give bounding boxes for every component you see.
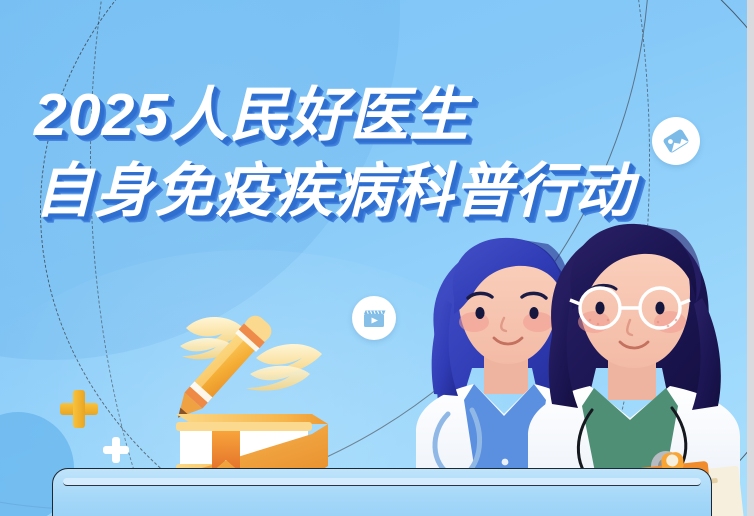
plus-orange [60,390,98,428]
counter-panel-top-edge [63,478,701,486]
photo-badge[interactable] [652,117,700,165]
video-badge[interactable] [352,296,396,340]
campaign-banner: 2025人民好医生 自身免疫疾病科普行动 [0,0,754,516]
headline-line-1: 2025人民好医生 [34,86,634,145]
headline-block: 2025人民好医生 自身免疫疾病科普行动 [34,86,634,221]
video-clapperboard-icon [360,304,388,332]
bottom-counter-panel [52,468,712,516]
headline-line-2: 自身免疫疾病科普行动 [34,162,634,221]
plus-white [103,437,129,463]
plus-icon-vertical-bar [73,390,85,428]
image-icon [661,126,691,156]
book-icon [176,414,328,476]
plus-icon-vertical-bar [112,437,120,463]
